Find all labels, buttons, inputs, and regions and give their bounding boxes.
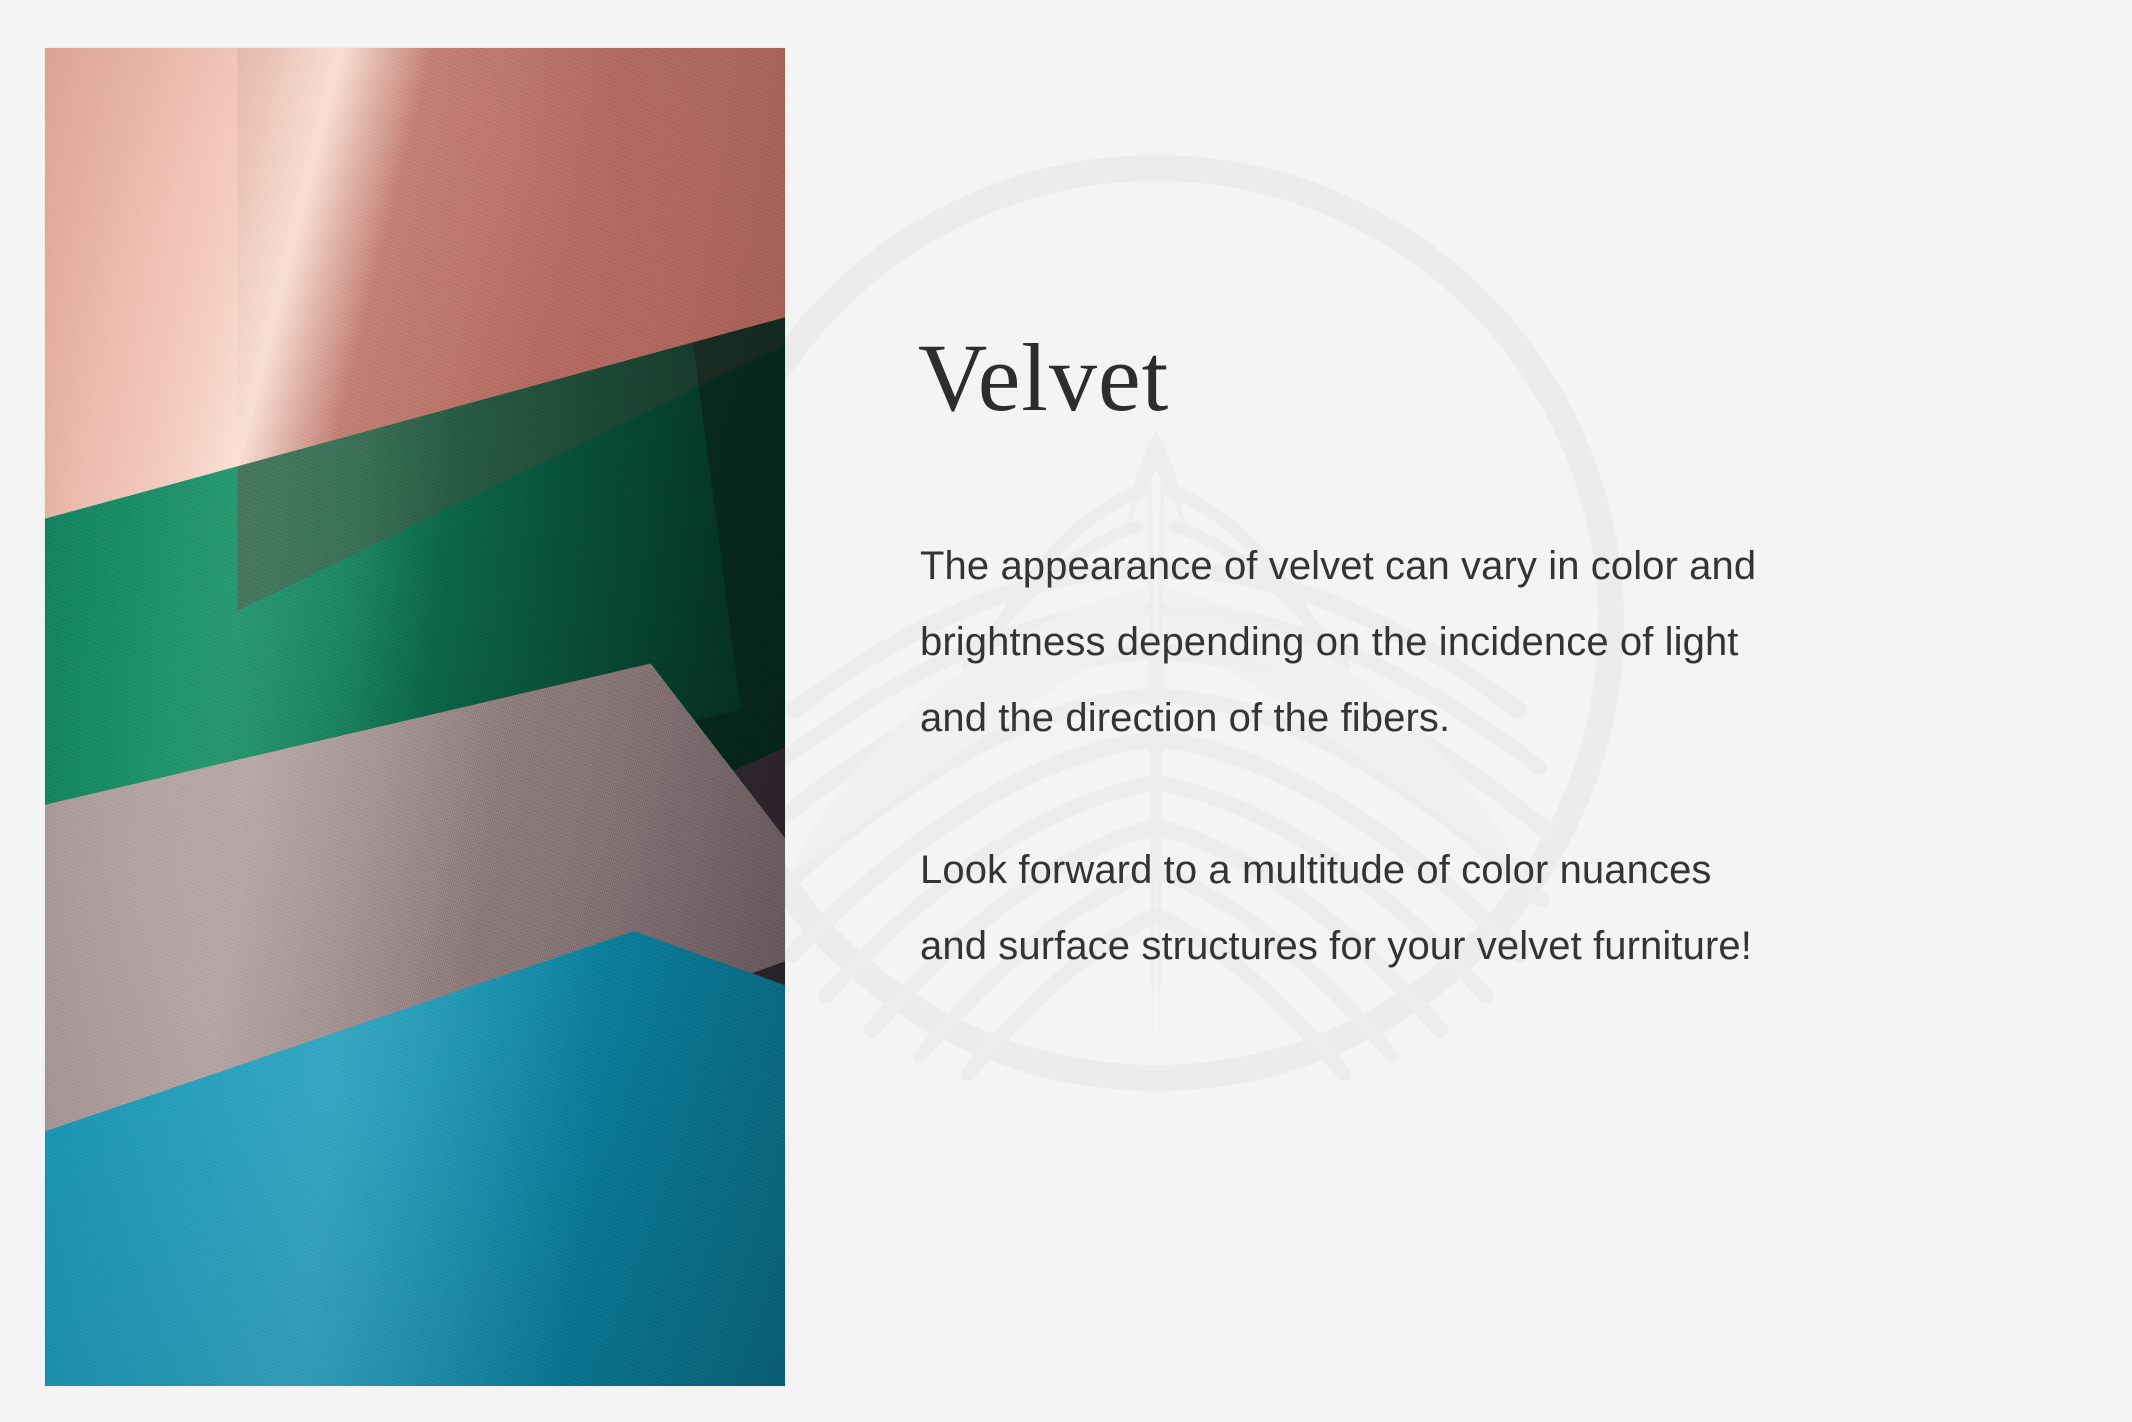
paragraph-1-line-3: and the direction of the fibers. <box>920 680 2010 756</box>
paragraph-1-line-2: brightness depending on the incidence of… <box>920 604 2010 680</box>
paragraph-1: The appearance of velvet can vary in col… <box>920 528 2010 756</box>
image-vignette <box>45 48 785 1386</box>
paragraph-2: Look forward to a multitude of color nua… <box>920 832 2010 984</box>
velvet-fabric-image <box>45 48 785 1386</box>
paragraph-1-line-1: The appearance of velvet can vary in col… <box>920 528 2010 604</box>
paragraph-2-line-2: and surface structures for your velvet f… <box>920 908 2010 984</box>
body-copy: The appearance of velvet can vary in col… <box>920 528 2010 984</box>
page-title: Velvet <box>918 330 1169 426</box>
paragraph-2-line-1: Look forward to a multitude of color nua… <box>920 832 2010 908</box>
text-column: Velvet The appearance of velvet can vary… <box>918 0 2038 1422</box>
velvet-promo-banner: Velvet The appearance of velvet can vary… <box>0 0 2132 1422</box>
